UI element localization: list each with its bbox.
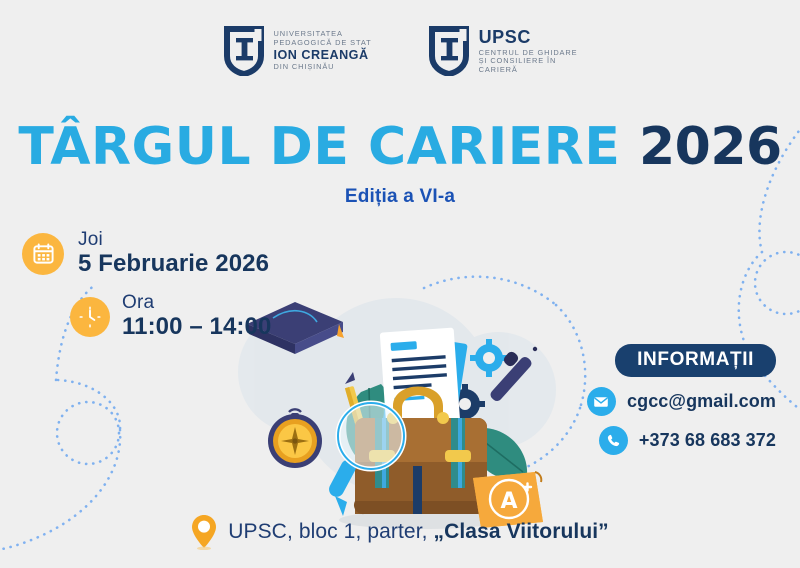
hour-label: Ora	[122, 292, 271, 313]
university-logo-name: ION CREANGĂ	[274, 48, 372, 63]
venue-text: UPSC, bloc 1, parter, „Clasa Viitorului”	[228, 520, 609, 544]
clock-icon-badge	[70, 297, 110, 337]
compass-icon	[268, 409, 322, 468]
logo-bar: UNIVERSITATEA PEDAGOGICĂ DE STAT ION CRE…	[0, 26, 800, 76]
poster-canvas: UNIVERSITATEA PEDAGOGICĂ DE STAT ION CRE…	[0, 0, 800, 568]
university-logo-line-2: PEDAGOGICĂ DE STAT	[274, 39, 372, 48]
page-subtitle: Ediția a VI-a	[0, 186, 800, 208]
career-briefcase-illustration: A	[243, 296, 553, 531]
contact-block: INFORMAȚII cgcc@gmail.com +373 68 683 37…	[587, 344, 776, 455]
shield-with-column-icon	[223, 26, 265, 76]
info-badge: INFORMAȚII	[615, 344, 776, 377]
venue-prefix: UPSC, bloc 1, parter,	[228, 520, 433, 543]
contact-email: cgcc@gmail.com	[627, 391, 776, 412]
envelope-icon	[587, 387, 616, 416]
venue-row: UPSC, bloc 1, parter, „Clasa Viitorului”	[0, 514, 800, 550]
location-pin-icon	[191, 514, 217, 550]
title-main: TÂRGUL DE CARIERE	[18, 117, 620, 177]
contact-phone-row[interactable]: +373 68 683 372	[599, 426, 776, 455]
date-weekday: Joi	[78, 229, 269, 250]
date-row: Joi 5 Februarie 2026	[22, 229, 269, 278]
shield-with-column-icon	[428, 26, 470, 76]
contact-phone: +373 68 683 372	[639, 430, 776, 451]
career-center-line-3: CARIERĂ	[479, 66, 578, 75]
contact-email-row[interactable]: cgcc@gmail.com	[587, 387, 776, 416]
title-year: 2026	[639, 117, 782, 177]
page-title: TÂRGUL DE CARIERE 2026	[0, 121, 800, 173]
calendar-icon	[32, 242, 55, 265]
calendar-icon-badge	[22, 233, 64, 275]
phone-icon	[599, 426, 628, 455]
university-logo: UNIVERSITATEA PEDAGOGICĂ DE STAT ION CRE…	[223, 26, 372, 76]
career-center-brand: UPSC	[479, 27, 578, 48]
hour-row: Ora 11:00 – 14:00	[70, 292, 271, 341]
svg-text:A: A	[500, 489, 517, 514]
hour-value: 11:00 – 14:00	[122, 314, 271, 341]
career-center-logo: UPSC CENTRUL DE GHIDARE ȘI CONSILIERE ÎN…	[428, 26, 578, 76]
clock-icon	[77, 304, 103, 330]
title-block: TÂRGUL DE CARIERE 2026 Ediția a VI-a	[0, 121, 800, 208]
venue-highlight: „Clasa Viitorului”	[434, 520, 609, 543]
university-logo-city: DIN CHIȘINĂU	[274, 63, 372, 72]
date-value: 5 Februarie 2026	[78, 251, 269, 278]
